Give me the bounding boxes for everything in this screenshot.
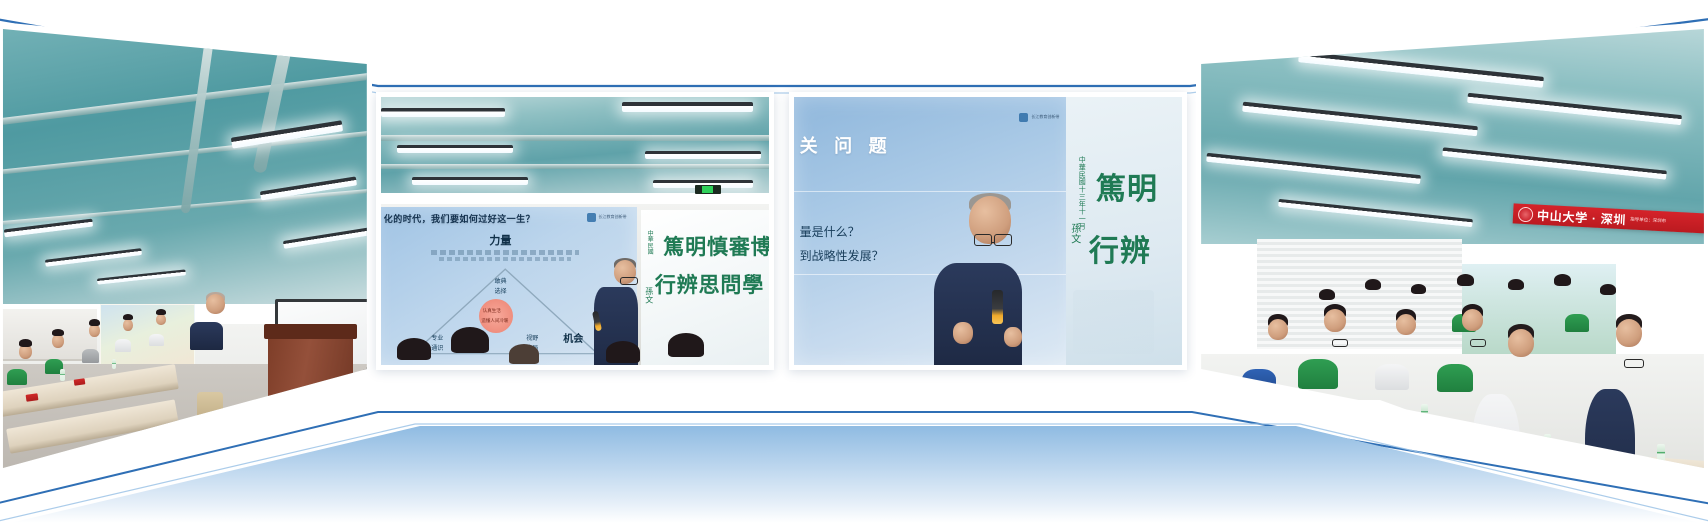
attendee-head bbox=[123, 319, 133, 331]
nameplate-text: 周祖元 bbox=[1389, 420, 1408, 430]
slide-logo: 长江教育创新带 bbox=[1019, 113, 1059, 122]
calligraphy-side-2: 孫文 bbox=[644, 287, 655, 324]
attendee-hair bbox=[52, 329, 64, 336]
ceiling-lamp bbox=[622, 102, 754, 112]
attendee-body bbox=[1298, 359, 1338, 389]
photo-right[interactable]: 中山大学 · 深圳 指导单位：深圳市 bbox=[1196, 14, 1708, 514]
foreground-head bbox=[397, 338, 431, 360]
attendee-glasses bbox=[1470, 339, 1486, 347]
water-bottle bbox=[1421, 404, 1428, 421]
framework-node-top: 力量 bbox=[489, 232, 511, 248]
desk-leg bbox=[1442, 434, 1445, 474]
speaker-closeup-scene: 关 问 题 量是什么？ 到战略性发展？ 长江教育创新带 篤明 行辨 中華民國十三… bbox=[794, 97, 1182, 365]
attendee-hair bbox=[156, 309, 166, 315]
framework-node-mid: 敢典 bbox=[495, 276, 507, 285]
logo-mark bbox=[1019, 113, 1028, 122]
attendee-body bbox=[1242, 369, 1276, 395]
photo-left-image bbox=[0, 14, 372, 514]
attendee-head bbox=[1396, 314, 1416, 335]
photo-left[interactable] bbox=[0, 14, 372, 514]
calligraphy-line-2: 行辨思問學 bbox=[655, 269, 764, 299]
slide-headline: 关 问 题 bbox=[800, 132, 893, 158]
attendee-head bbox=[1324, 309, 1346, 332]
attendee-body bbox=[1472, 394, 1520, 514]
calligraphy-board: 篤明 行辨 中華民國十三年十一月 孫文 bbox=[1066, 97, 1182, 365]
photo-right-image: 中山大学 · 深圳 指导单位：深圳市 bbox=[1196, 14, 1708, 514]
university-seal-icon bbox=[1518, 206, 1534, 222]
photo-mid-b[interactable]: 关 问 题 量是什么？ 到战略性发展？ 长江教育创新带 篤明 行辨 中華民國十三… bbox=[789, 92, 1187, 370]
desk-nameplate: 周祖元 bbox=[1385, 418, 1412, 432]
speaker-glasses-left bbox=[974, 234, 992, 246]
speaker-head bbox=[206, 294, 225, 314]
exit-sign bbox=[695, 185, 721, 194]
framework-node-mid-2: 选择 bbox=[495, 286, 507, 295]
photo-mid-a[interactable]: 化的时代，我们要如何过好这一生？ 长江教育创新带 力量 敢典 选择 bbox=[376, 92, 774, 370]
attendee-body bbox=[115, 339, 131, 352]
attendee-head bbox=[1616, 319, 1642, 347]
slide-question-1: 量是什么？ bbox=[800, 223, 860, 240]
attendee-body bbox=[7, 369, 27, 385]
water-bottle bbox=[1544, 434, 1551, 452]
calligraphy-line-1: 篤明慎審博 bbox=[663, 231, 769, 261]
attendee-hair bbox=[89, 319, 100, 326]
calligraphy-watermark bbox=[1073, 290, 1154, 354]
speaker-hand bbox=[953, 322, 973, 344]
attendee-head bbox=[1462, 309, 1483, 331]
attendee-head bbox=[156, 314, 166, 325]
speaker-glasses-right bbox=[994, 234, 1012, 246]
attendee-hair bbox=[1457, 274, 1474, 286]
calligraphy-side-2: 孫文 bbox=[1067, 223, 1082, 282]
attendee-hair bbox=[1600, 284, 1616, 295]
banner-sub-text: 指导单位：深圳市 bbox=[1630, 217, 1666, 225]
framework-note bbox=[439, 257, 571, 261]
slide-headline: 化的时代，我们要如何过好这一生？ bbox=[384, 212, 535, 225]
desk-nameplate: 孙 bbox=[1605, 473, 1634, 487]
foreground-head bbox=[668, 333, 704, 357]
ceiling-lamp bbox=[412, 177, 528, 185]
nameplate-text: 孙 bbox=[1616, 476, 1622, 485]
attendee-hair bbox=[19, 339, 32, 347]
foreground-head bbox=[451, 327, 489, 353]
attendee-glasses bbox=[1332, 339, 1348, 347]
slide-logo: 长江教育创新带 bbox=[587, 213, 627, 222]
attendee-body bbox=[1585, 389, 1635, 514]
framework-core-line1: 认真生活 bbox=[483, 308, 501, 314]
water-bottle bbox=[60, 369, 65, 381]
water-bottle bbox=[1657, 444, 1665, 463]
foreground-head bbox=[606, 341, 640, 363]
podium-top bbox=[264, 324, 357, 339]
classroom-wide-scene bbox=[0, 14, 372, 514]
microphone bbox=[992, 290, 1003, 324]
attendee-hair bbox=[1554, 274, 1571, 286]
framework-core-circle bbox=[479, 299, 513, 333]
attendee-head bbox=[1268, 319, 1288, 340]
logo-text: 长江教育创新带 bbox=[1031, 115, 1059, 119]
attendee-head bbox=[1508, 329, 1534, 357]
framework-core-line2: 造懂人间冷暖 bbox=[481, 318, 508, 324]
logo-text: 长江教育创新带 bbox=[599, 215, 627, 219]
ceiling-pipe bbox=[381, 135, 769, 141]
attendee-hair bbox=[1411, 284, 1426, 294]
window-blind bbox=[1257, 239, 1462, 349]
podium bbox=[268, 329, 354, 469]
desk-leg bbox=[1309, 444, 1312, 489]
desk-row bbox=[1226, 416, 1402, 456]
desk-nameplate: 周小龙 bbox=[1247, 478, 1278, 495]
photo-mid-a-image: 化的时代，我们要如何过好这一生？ 长江教育创新带 力量 敢典 选择 bbox=[381, 97, 769, 365]
attendee-body bbox=[1375, 364, 1409, 390]
attendee-glasses bbox=[1624, 359, 1644, 368]
framework-node-left-2: 通识 bbox=[431, 343, 443, 352]
water-bottle bbox=[1222, 454, 1230, 474]
audience-scene: 中山大学 · 深圳 指导单位：深圳市 bbox=[1196, 14, 1708, 514]
speaker-trousers bbox=[197, 392, 223, 422]
calligraphy-board: 篤明慎審博 行辨思問學 中華民國 孫文 bbox=[641, 210, 769, 365]
ceiling-lamp bbox=[381, 108, 505, 117]
slide-question-2: 到战略性发展？ bbox=[800, 247, 884, 264]
attendee-body bbox=[1565, 314, 1589, 332]
attendee-head bbox=[52, 334, 64, 348]
calligraphy-line-2: 行辨 bbox=[1089, 226, 1151, 270]
framework-node-right: 机会 bbox=[563, 330, 583, 345]
framework-node-left-1: 专业 bbox=[431, 333, 443, 342]
attendee-body bbox=[82, 349, 99, 363]
framework-note bbox=[431, 250, 579, 255]
photo-gallery-banner: 化的时代，我们要如何过好这一生？ 长江教育创新带 力量 敢典 选择 bbox=[0, 0, 1708, 523]
attendee-hair bbox=[1508, 279, 1524, 290]
ceiling-lamp bbox=[645, 151, 761, 159]
speaker-torso bbox=[190, 322, 223, 350]
lecture-slide-scene: 化的时代，我们要如何过好这一生？ 长江教育创新带 力量 敢典 选择 bbox=[381, 97, 769, 365]
ceiling-pipe bbox=[381, 164, 769, 169]
speaker-shoes bbox=[199, 469, 221, 475]
attendee-hair bbox=[1319, 289, 1335, 300]
slide-divider bbox=[794, 191, 1073, 192]
calligraphy-line-1: 篤明 bbox=[1096, 164, 1158, 208]
nameplate-text: 周小龙 bbox=[1251, 481, 1273, 492]
presenter-glasses bbox=[620, 277, 638, 285]
framework-node-right-1: 视野 bbox=[526, 333, 538, 342]
speaker-torso bbox=[934, 263, 1022, 365]
attendee-body bbox=[1437, 364, 1473, 392]
desk-row bbox=[1196, 470, 1402, 514]
attendee-hair bbox=[1365, 279, 1381, 290]
glasses-bridge bbox=[991, 242, 995, 243]
ceiling-lamp bbox=[397, 145, 513, 153]
foreground-head bbox=[509, 344, 539, 364]
attendee-body bbox=[149, 334, 164, 346]
attendee-hair bbox=[123, 314, 133, 320]
photo-mid-b-image: 关 问 题 量是什么？ 到战略性发展？ 长江教育创新带 篤明 行辨 中華民國十三… bbox=[794, 97, 1182, 365]
speaker-hand bbox=[1004, 327, 1022, 347]
water-bottle bbox=[112, 359, 116, 369]
logo-mark bbox=[587, 213, 596, 222]
slide-divider bbox=[794, 274, 1073, 275]
banner-main-text: 中山大学 · 深圳 bbox=[1537, 206, 1627, 228]
